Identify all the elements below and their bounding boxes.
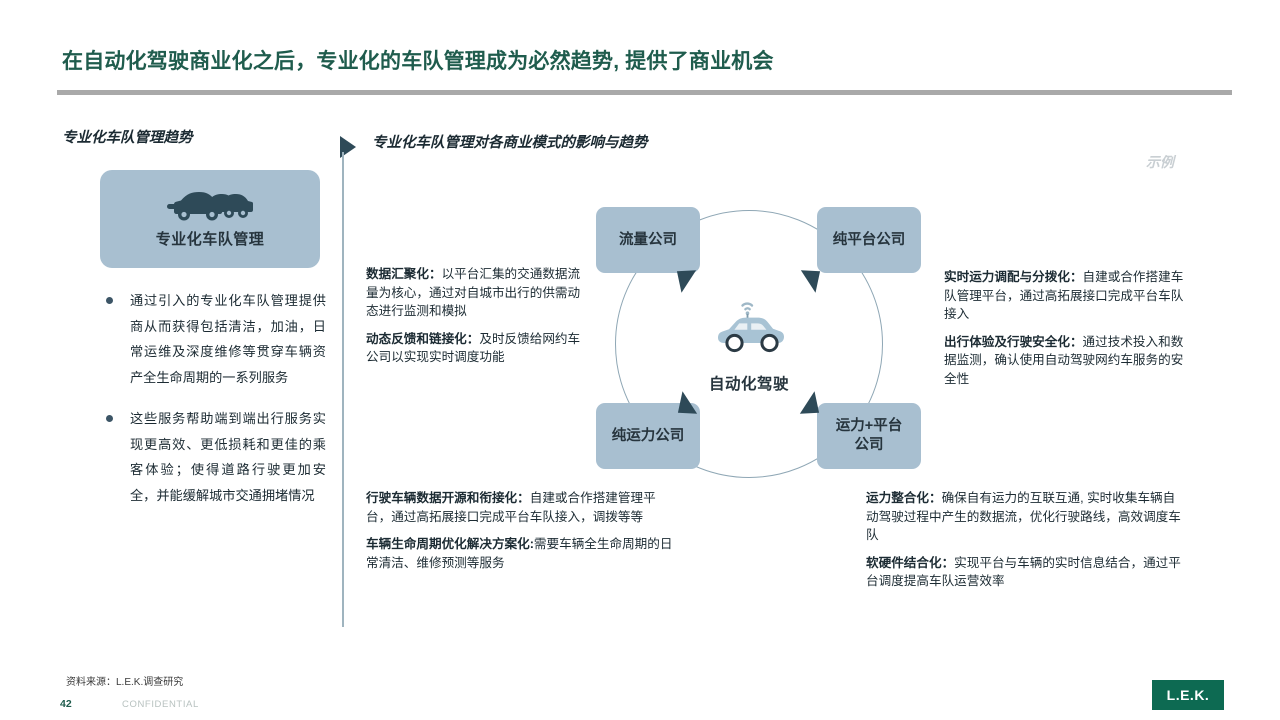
left-column-heading: 专业化车队管理趋势 [62, 128, 324, 148]
slide-root: 在自动化驾驶商业化之后，专业化的车队管理成为必然趋势, 提供了商业机会 专业化车… [0, 0, 1280, 720]
fleet-card-label: 专业化车队管理 [156, 228, 265, 249]
node-label: 纯平台公司 [833, 231, 906, 250]
note-title: 行驶车辆数据开源和衔接化： [366, 491, 530, 505]
left-bullet-list: 通过引入的专业化车队管理提供商从而获得包括清洁，加油，日常运维及深度维修等贯穿车… [104, 288, 326, 524]
node-label-line2: 公司 [855, 437, 884, 453]
bullet-dot-icon [106, 415, 113, 422]
list-item: 通过引入的专业化车队管理提供商从而获得包括清洁，加油，日常运维及深度维修等贯穿车… [104, 288, 326, 390]
note-title: 出行体验及行驶安全化： [944, 335, 1083, 349]
note-title: 数据汇聚化： [366, 267, 442, 281]
page-number: 42 [60, 698, 72, 710]
bullet-text: 通过引入的专业化车队管理提供商从而获得包括清洁，加油，日常运维及深度维修等贯穿车… [130, 293, 326, 385]
note-paragraph: 动态反馈和链接化：及时反馈给网约车公司以实现实时调度功能 [366, 330, 588, 367]
left-column-heading-wrap: 专业化车队管理趋势 [62, 128, 324, 148]
page-title: 在自动化驾驶商业化之后，专业化的车队管理成为必然趋势, 提供了商业机会 [62, 48, 1222, 76]
node-label: 流量公司 [619, 231, 677, 250]
cars-fleet-icon [167, 192, 253, 224]
note-paragraph: 行驶车辆数据开源和衔接化：自建或合作搭建管理平台，通过高拓展接口完成平台车队接入… [366, 489, 678, 526]
note-paragraph: 车辆生命周期优化解决方案化:需要车辆全生命周期的日常清洁、维修预测等服务 [366, 535, 678, 572]
example-stamp-label: 示例 [1146, 152, 1174, 172]
business-model-cycle-diagram: 流量公司 纯平台公司 纯运力公司 运力+平台 公司 [585, 195, 955, 490]
note-title: 实时运力调配与分拨化： [944, 270, 1083, 284]
node-pure-platform-company[interactable]: 纯平台公司 [817, 207, 921, 273]
self-driving-car-icon [706, 348, 792, 365]
diagram-center: 自动化驾驶 [669, 299, 829, 394]
confidential-label: CONFIDENTIAL [122, 699, 199, 710]
source-note: 资料来源：L.E.K.调查研究 [66, 673, 183, 688]
node-label: 纯运力公司 [612, 427, 685, 446]
note-bottom-right: 运力整合化：确保自有运力的互联互通, 实时收集车辆自动驾驶过程中产生的数据流，优… [866, 489, 1184, 591]
node-traffic-company[interactable]: 流量公司 [596, 207, 700, 273]
bullet-text: 这些服务帮助端到端出行服务实现更高效、更低损耗和更佳的乘客体验；使得道路行驶更加… [130, 411, 326, 503]
bullet-dot-icon [106, 297, 113, 304]
column-divider [342, 152, 344, 627]
note-paragraph: 数据汇聚化：以平台汇集的交通数据流量为核心，通过对自城市出行的供需动态进行监测和… [366, 265, 588, 321]
note-paragraph: 运力整合化：确保自有运力的互联互通, 实时收集车辆自动驾驶过程中产生的数据流，优… [866, 489, 1184, 545]
title-divider-rule [57, 90, 1232, 95]
lek-logo: L.E.K. [1152, 680, 1224, 710]
right-column-heading: 专业化车队管理对各商业模式的影响与趋势 [372, 131, 648, 152]
note-paragraph: 出行体验及行驶安全化：通过技术投入和数据监测，确认使用自动驾驶网约车服务的安全性 [944, 333, 1192, 389]
note-paragraph: 软硬件结合化：实现平台与车辆的实时信息结合，通过平台调度提高车队运营效率 [866, 554, 1184, 591]
fleet-management-card: 专业化车队管理 [100, 170, 320, 268]
node-label-line1: 运力+平台 [836, 418, 902, 434]
list-item: 这些服务帮助端到端出行服务实现更高效、更低损耗和更佳的乘客体验；使得道路行驶更加… [104, 406, 326, 508]
note-bottom-left: 行驶车辆数据开源和衔接化：自建或合作搭建管理平台，通过高拓展接口完成平台车队接入… [366, 489, 678, 572]
diagram-center-label: 自动化驾驶 [669, 372, 829, 394]
note-top-left: 数据汇聚化：以平台汇集的交通数据流量为核心，通过对自城市出行的供需动态进行监测和… [366, 265, 588, 367]
note-title: 运力整合化： [866, 491, 942, 505]
note-title: 车辆生命周期优化解决方案化: [366, 537, 534, 551]
note-title: 动态反馈和链接化： [366, 332, 479, 346]
note-top-right: 实时运力调配与分拨化：自建或合作搭建车队管理平台，通过高拓展接口完成平台车队接入… [944, 268, 1192, 389]
note-title: 软硬件结合化： [866, 556, 954, 570]
note-paragraph: 实时运力调配与分拨化：自建或合作搭建车队管理平台，通过高拓展接口完成平台车队接入 [944, 268, 1192, 324]
node-capacity-platform-company[interactable]: 运力+平台 公司 [817, 403, 921, 469]
